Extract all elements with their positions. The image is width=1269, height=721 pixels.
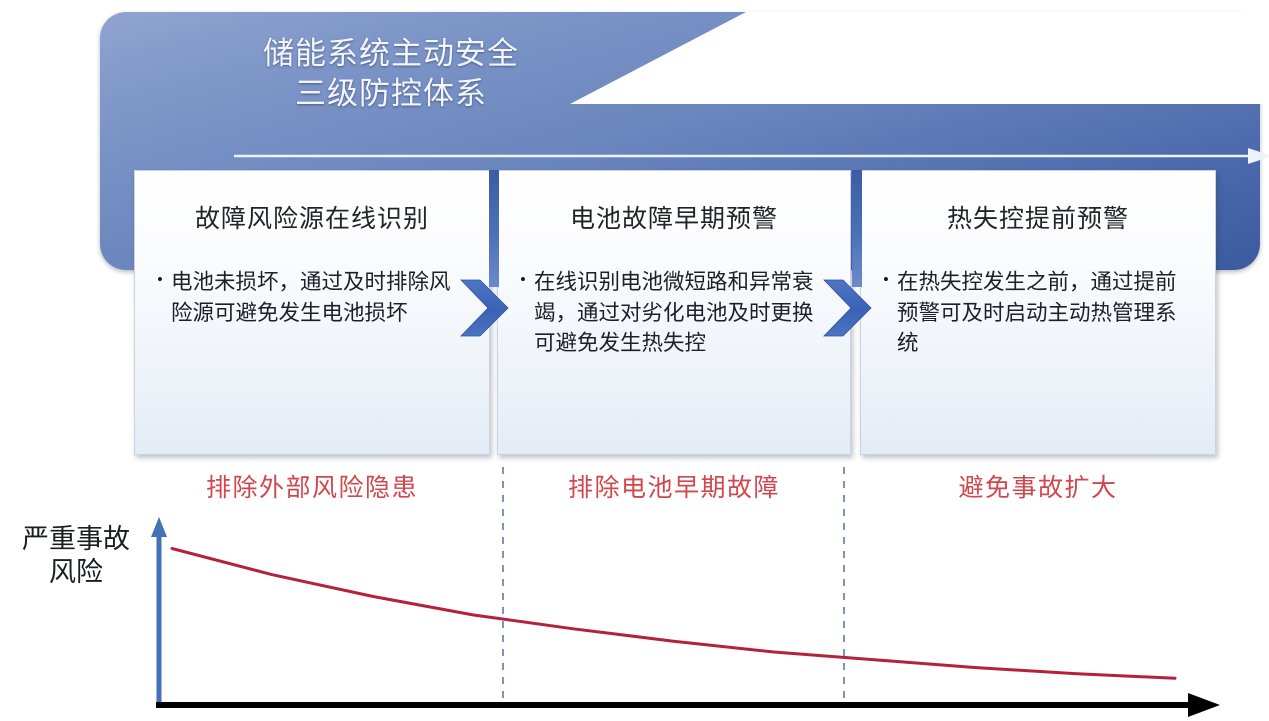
banner-title: 储能系统主动安全 三级防控体系 [226,34,556,115]
banner-notch [570,12,1269,104]
stage-box-2[interactable]: 电池故障早期预警 • 在线识别电池微短路和异常衰竭，通过对劣化电池及时更换可避免… [497,170,851,455]
stage-title-3: 热失控提前预警 [861,199,1215,235]
stage-title-2: 电池故障早期预警 [498,199,850,235]
stage-title-1: 故障风险源在线识别 [135,199,489,235]
risk-curve-series [172,549,1175,679]
stage-separator-bar-1 [489,170,499,287]
stage-box-1[interactable]: 故障风险源在线识别 • 电池未损坏，通过及时排除风险源可避免发生电池损坏 [134,170,490,455]
risk-decay-chart: 严重事故 风险 [0,455,1269,721]
chart-plot-area [0,455,1269,721]
stage-bullet-text-1: 电池未损坏，通过及时排除风险源可避免发生电池损坏 [171,267,467,328]
chart-y-axis-label: 严重事故 风险 [8,523,144,589]
stage-body-1: • 电池未损坏，通过及时排除风险源可避免发生电池损坏 [149,267,467,328]
stage-body-2: • 在线识别电池微短路和异常衰竭，通过对劣化电池及时更换可避免发生热失控 [512,267,828,359]
progress-arrow-icon [234,146,1269,166]
chevron-right-icon-2 [822,277,880,339]
slide-canvas: 储能系统主动安全 三级防控体系 故障风险源在线识别 • 电池未损坏，通过及时排除… [0,0,1269,721]
chevron-right-icon-1 [459,277,517,339]
stage-bullet-text-3: 在热失控发生之前，通过提前预警可及时启动主动热管理系统 [897,267,1193,359]
stage-bullet-text-2: 在线识别电池微短路和异常衰竭，通过对劣化电池及时更换可避免发生热失控 [534,267,828,359]
bullet-marker-1: • [149,267,171,328]
stage-separator-bar-2 [852,170,862,287]
stage-body-3: • 在热失控发生之前，通过提前预警可及时启动主动热管理系统 [875,267,1193,359]
chart-y-axis [151,517,167,705]
stage-box-3[interactable]: 热失控提前预警 • 在热失控发生之前，通过提前预警可及时启动主动热管理系统 [860,170,1216,455]
chart-x-axis [156,693,1220,717]
